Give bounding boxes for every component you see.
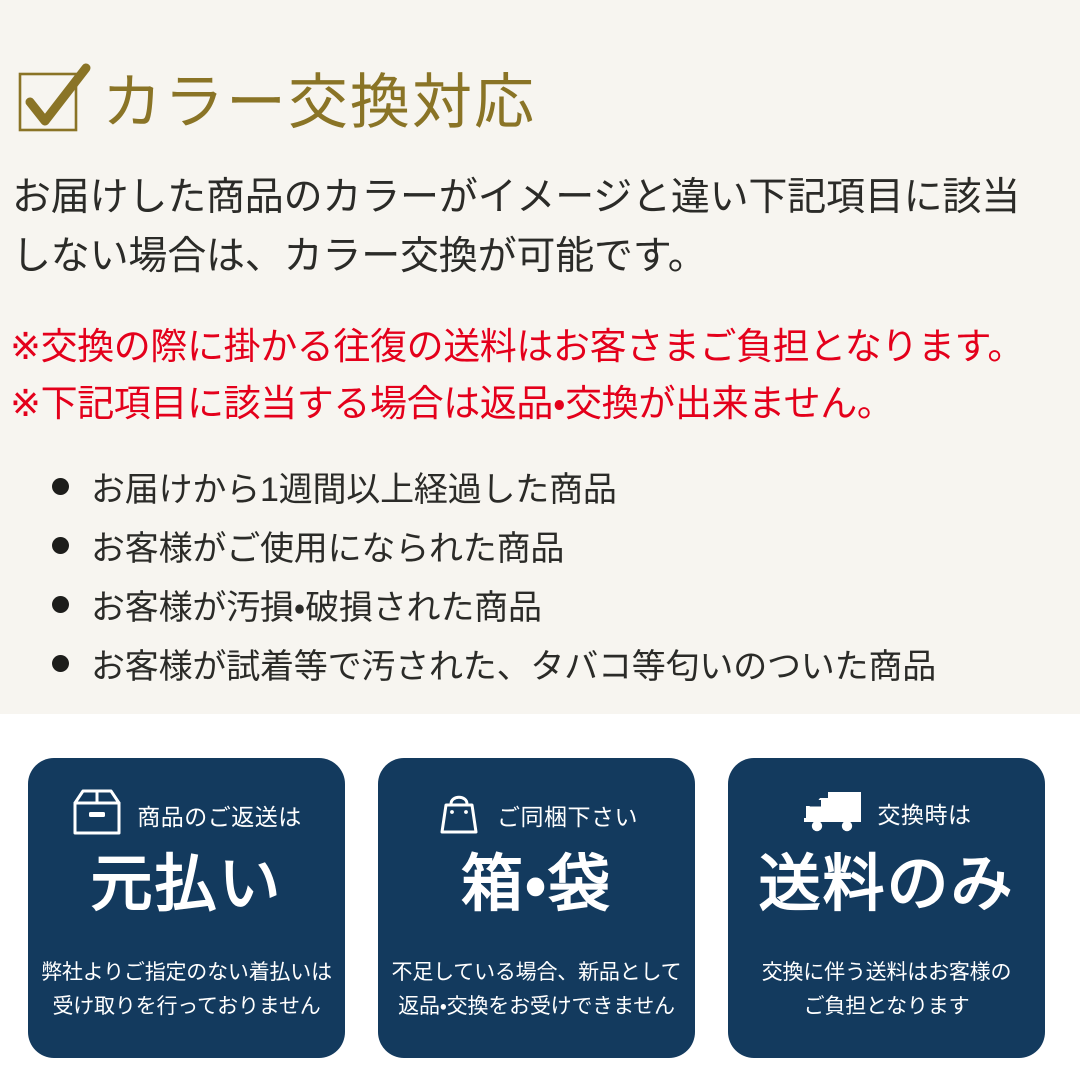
card-note-line-1: 弊社よりご指定のない着払いは xyxy=(28,956,345,990)
intro-line-1: お届けした商品のカラーがイメージと違い下記項目に該当 xyxy=(12,168,1072,227)
card-include-box-and-bag: ご同梱下さい 箱・袋 不足している場合、新品として 返品・交換をお受けできません xyxy=(378,758,695,1058)
card-header: 商品のご返送は xyxy=(28,788,345,841)
list-item-label: お客様が試着等で汚された、タバコ等匂いのついた商品 xyxy=(91,639,936,688)
card-shipping-fee-only: 交換時は 送料のみ 交換に伴う送料はお客様の ご負担となります xyxy=(728,758,1045,1058)
intro-paragraph: お届けした商品のカラーがイメージと違い下記項目に該当 しない場合は、カラー交換が… xyxy=(12,168,1072,287)
policy-text-panel: カラー交換対応 お届けした商品のカラーがイメージと違い下記項目に該当 しない場合… xyxy=(0,0,1080,714)
intro-line-2: しない場合は、カラー交換が可能です。 xyxy=(12,227,1072,286)
policy-cards-section: 商品のご返送は 元払い 弊社よりご指定のない着払いは 受け取りを行っておりません xyxy=(0,714,1080,1080)
list-item: お客様が汚損・破損された商品 xyxy=(52,580,1072,639)
card-note: 不足している場合、新品として 返品・交換をお受けできません xyxy=(378,956,695,1024)
card-note-line-1: 不足している場合、新品として xyxy=(378,956,695,990)
warning-notices: ※交換の際に掛かる往復の送料はお客さまご負担となります。 ※下記項目に該当する場… xyxy=(10,318,1080,433)
warning-line-1: ※交換の際に掛かる往復の送料はお客さまご負担となります。 xyxy=(10,318,1080,375)
card-note-line-2: 受け取りを行っておりません xyxy=(28,990,345,1024)
list-item-label: お客様がご使用になられた商品 xyxy=(91,521,564,570)
card-note-line-2: ご負担となります xyxy=(728,990,1045,1024)
card-title: 箱・袋 xyxy=(378,854,695,916)
card-note-line-1: 交換に伴う送料はお客様の xyxy=(728,956,1045,990)
cardboard-box-icon xyxy=(71,788,123,841)
card-header: ご同梱下さい xyxy=(378,788,695,841)
card-title: 元払い xyxy=(28,854,345,916)
checkbox-checked-icon xyxy=(16,66,88,138)
card-header: 交換時は xyxy=(728,788,1045,837)
shopping-bag-icon xyxy=(435,788,483,841)
warning-line-2: ※下記項目に該当する場合は返品・交換が出来ません。 xyxy=(10,375,1080,432)
list-item: お届けから1週間以上経過した商品 xyxy=(52,462,1072,521)
bullet-dot-icon xyxy=(52,478,69,495)
delivery-truck-icon xyxy=(802,788,864,837)
card-return-shipping-prepaid: 商品のご返送は 元払い 弊社よりご指定のない着払いは 受け取りを行っておりません xyxy=(28,758,345,1058)
card-kicker: 商品のご返送は xyxy=(137,798,302,832)
card-note-line-2: 返品・交換をお受けできません xyxy=(378,990,695,1024)
page-title: カラー交換対応 xyxy=(102,73,536,133)
bullet-dot-icon xyxy=(52,596,69,613)
bullet-dot-icon xyxy=(52,537,69,554)
list-item-label: お客様が汚損・破損された商品 xyxy=(91,580,542,629)
exclusion-list: お届けから1週間以上経過した商品 お客様がご使用になられた商品 お客様が汚損・破… xyxy=(52,462,1072,698)
card-note: 弊社よりご指定のない着払いは 受け取りを行っておりません xyxy=(28,956,345,1024)
return-policy-infographic: カラー交換対応 お届けした商品のカラーがイメージと違い下記項目に該当 しない場合… xyxy=(0,0,1080,1080)
card-note: 交換に伴う送料はお客様の ご負担となります xyxy=(728,956,1045,1024)
list-item-label: お届けから1週間以上経過した商品 xyxy=(91,462,617,511)
card-kicker: ご同梱下さい xyxy=(497,798,638,832)
list-item: お客様がご使用になられた商品 xyxy=(52,521,1072,580)
page-heading: カラー交換対応 xyxy=(16,66,536,138)
bullet-dot-icon xyxy=(52,655,69,672)
list-item: お客様が試着等で汚された、タバコ等匂いのついた商品 xyxy=(52,639,1072,698)
card-kicker: 交換時は xyxy=(878,796,972,830)
card-title: 送料のみ xyxy=(728,854,1045,916)
